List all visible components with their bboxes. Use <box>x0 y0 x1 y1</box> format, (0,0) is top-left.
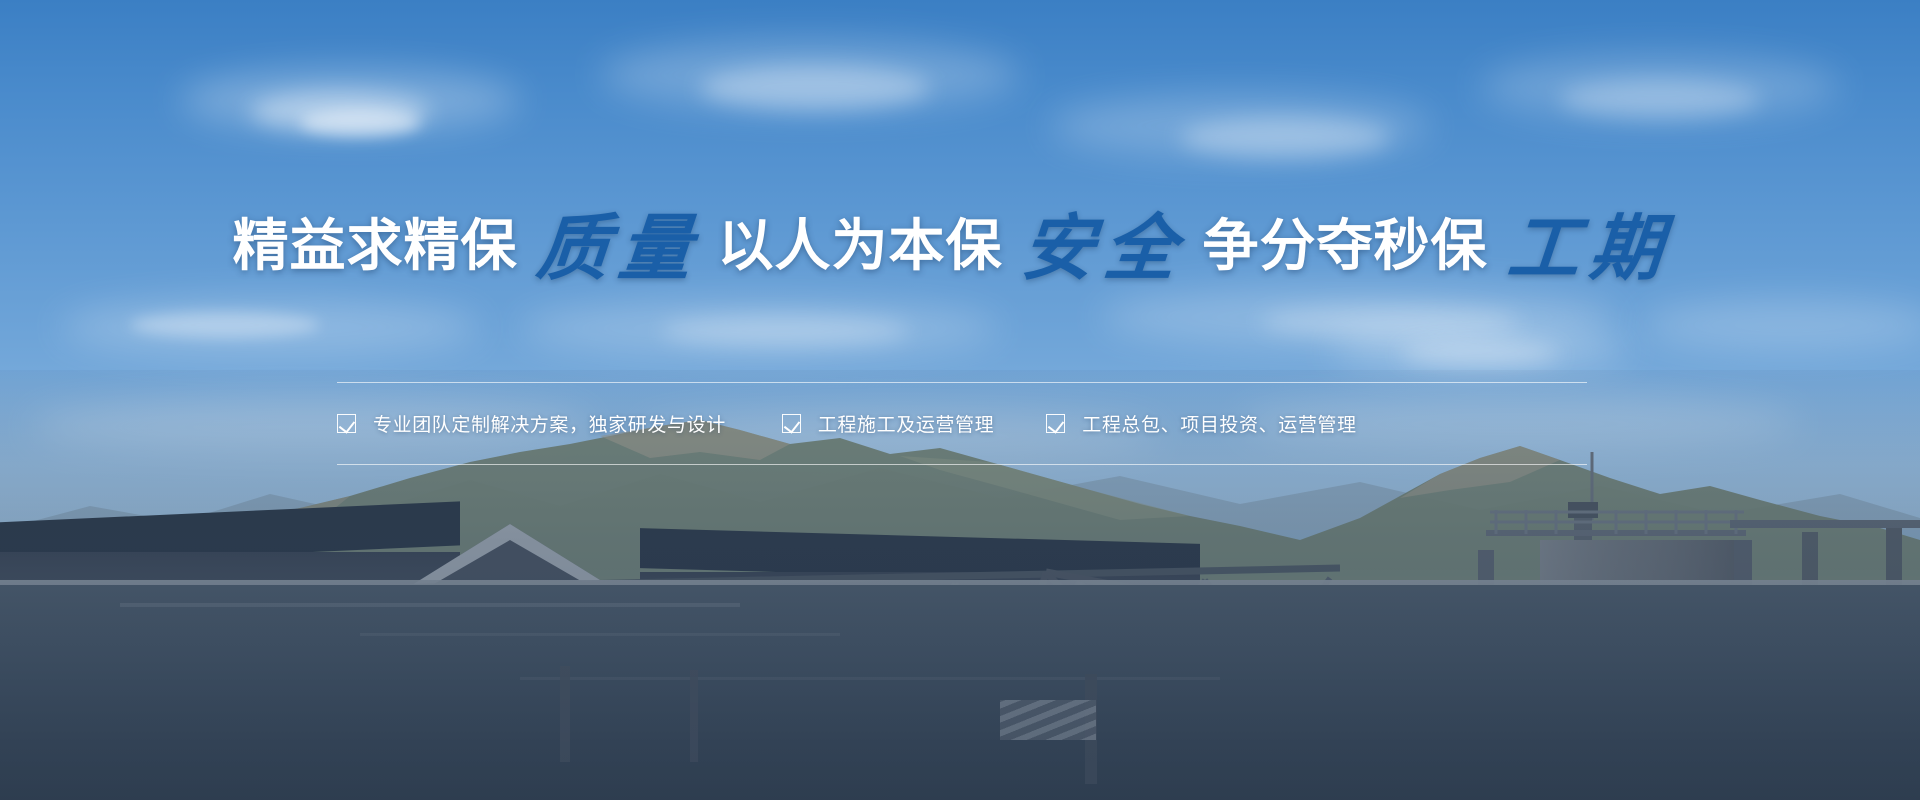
feature-item-3: 工程总包、项目投资、运营管理 <box>1046 410 1356 437</box>
hero-banner: 精益求精保 质量 以人为本保 安全 争分夺秒保 工期 专业团队定制解决方案，独家… <box>0 0 1920 800</box>
feature-label-3: 工程总包、项目投资、运营管理 <box>1082 410 1356 437</box>
water-basin <box>0 585 1920 800</box>
headline-segment-6: 工期 <box>1505 214 1675 282</box>
headline-segment-1: 精益求精保 <box>232 218 517 274</box>
headline-segment-5: 争分夺秒保 <box>1203 218 1488 274</box>
feature-list: 专业团队定制解决方案，独家研发与设计 工程施工及运营管理 工程总包、项目投资、运… <box>337 398 1587 448</box>
feature-label-1: 专业团队定制解决方案，独家研发与设计 <box>373 410 726 437</box>
column-support-2 <box>690 670 698 762</box>
divider-bottom <box>337 464 1587 465</box>
checkbox-checked-icon <box>782 414 801 433</box>
banner-content: 精益求精保 质量 以人为本保 安全 争分夺秒保 工期 专业团队定制解决方案，独家… <box>0 0 1920 480</box>
checkbox-checked-icon <box>337 414 356 433</box>
headline-segment-2: 质量 <box>534 214 704 282</box>
feature-label-2: 工程施工及运营管理 <box>818 410 994 437</box>
divider-top <box>337 382 1587 383</box>
headline-segment-3: 以人为本保 <box>717 218 1002 274</box>
headline-segment-4: 安全 <box>1019 214 1189 282</box>
feature-item-1: 专业团队定制解决方案，独家研发与设计 <box>337 410 726 437</box>
checkbox-checked-icon <box>1046 414 1065 433</box>
feature-item-2: 工程施工及运营管理 <box>782 410 994 437</box>
stair-flight <box>1000 700 1096 740</box>
headline: 精益求精保 质量 以人为本保 安全 争分夺秒保 工期 <box>0 206 1920 274</box>
column-support-1 <box>560 666 570 762</box>
